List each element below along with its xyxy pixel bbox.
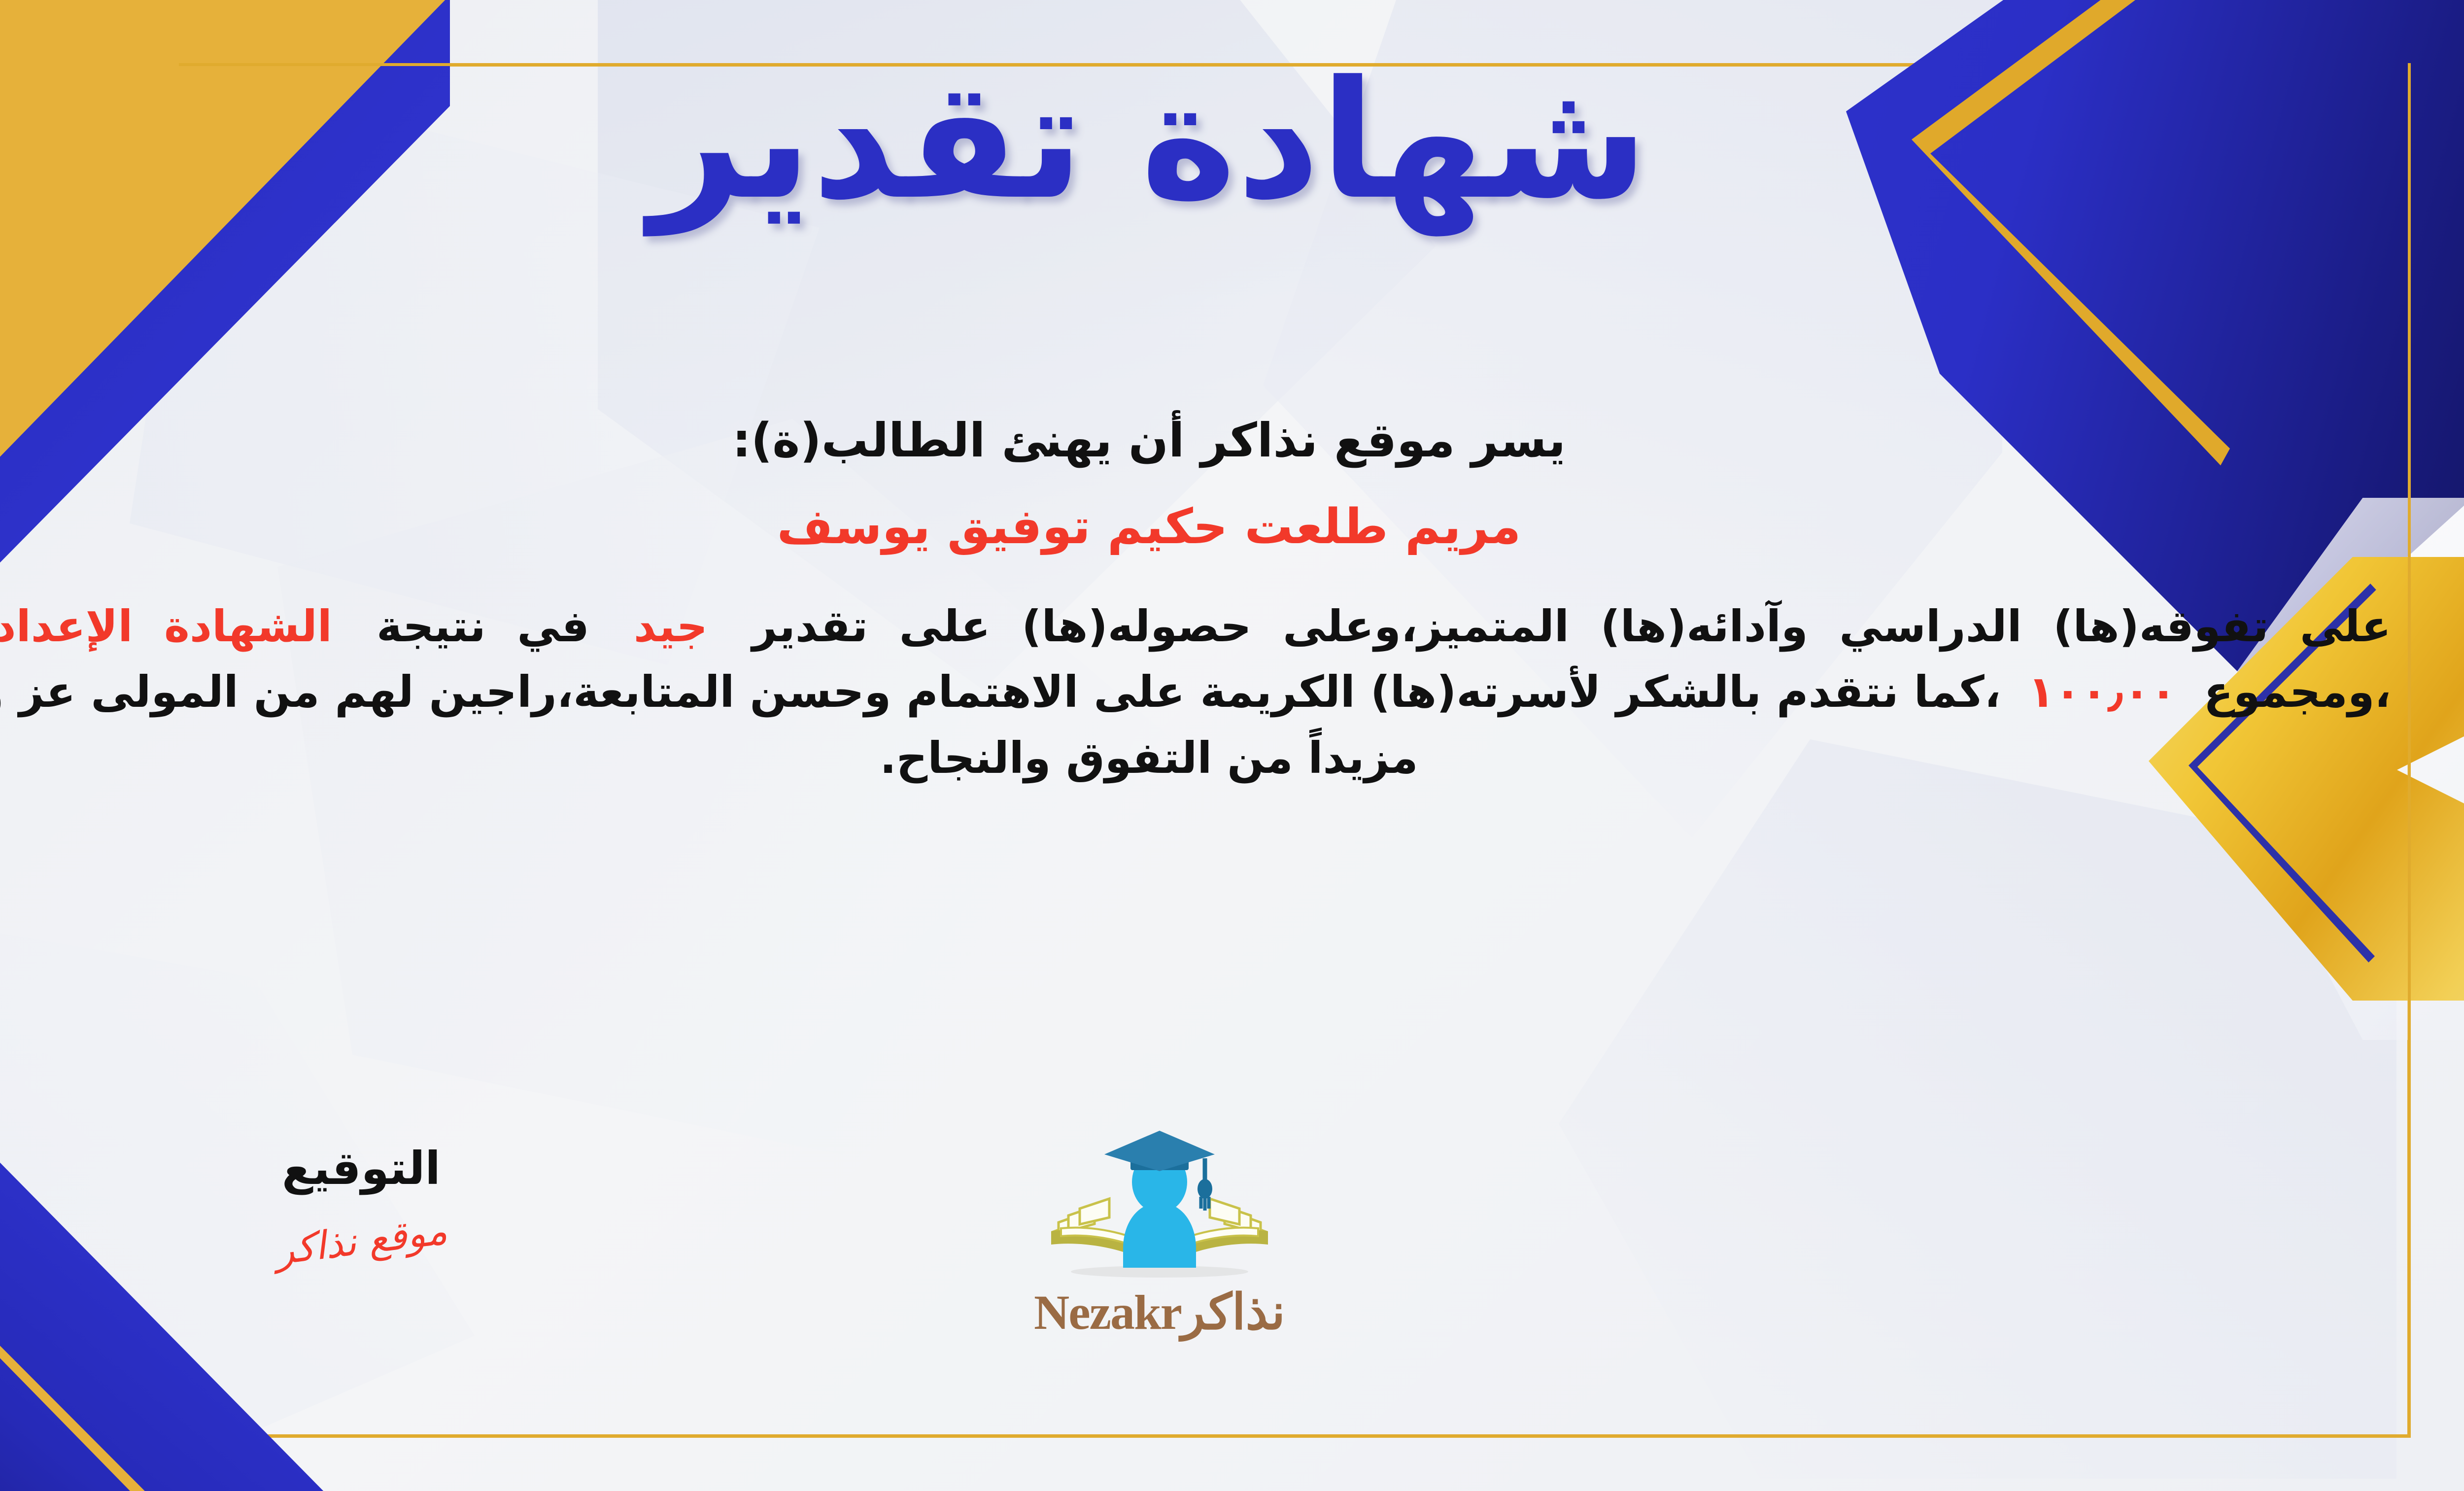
certificate-content: شهادة تقدير يسر موقع نذاكر أن يهنئ الطال…: [0, 0, 2464, 1491]
total-score: ١٠٠٫٠٠: [2028, 666, 2176, 717]
logo-word-latin: Nezakr: [1034, 1284, 1181, 1341]
paragraph-segment-2: في نتيجة: [376, 601, 589, 652]
intro-line: يسر موقع نذاكر أن يهنئ الطالب(ة):: [0, 409, 2411, 472]
paragraph-segment-1: على تفوقه(ها) الدراسي وآدائه(ها) المتميز…: [752, 601, 2391, 652]
grade-value: جيد: [634, 601, 708, 652]
certificate-body: يسر موقع نذاكر أن يهنئ الطالب(ة): مريم ط…: [0, 409, 2411, 791]
graduate-on-open-book-icon: [1031, 1124, 1288, 1286]
certificate-page: شهادة تقدير يسر موقع نذاكر أن يهنئ الطال…: [0, 0, 2464, 1491]
exam-name: الشهادة الإعدادية: [0, 601, 332, 652]
paragraph-segment-3: ،ومجموع: [2204, 666, 2391, 717]
award-paragraph: على تفوقه(ها) الدراسي وآدائه(ها) المتميز…: [0, 593, 2411, 791]
logo-wordmark: نذاكرNezakr: [982, 1283, 1337, 1341]
certificate-title: شهادة تقدير: [0, 59, 2464, 222]
logo-word-arabic: نذاكر: [1181, 1283, 1285, 1341]
signature-label: التوقيع: [223, 1144, 499, 1193]
brand-logo: نذاكرNezakr: [982, 1124, 1337, 1341]
paragraph-segment-4: ،كما نتقدم بالشكر لأسرته(ها) الكريمة على…: [0, 666, 2001, 783]
signature-value: موقع نذاكر: [222, 1204, 501, 1279]
student-name: مريم طلعت حكيم توفيق يوسف: [0, 496, 2411, 558]
signature-block: التوقيع موقع نذاكر: [223, 1144, 499, 1263]
